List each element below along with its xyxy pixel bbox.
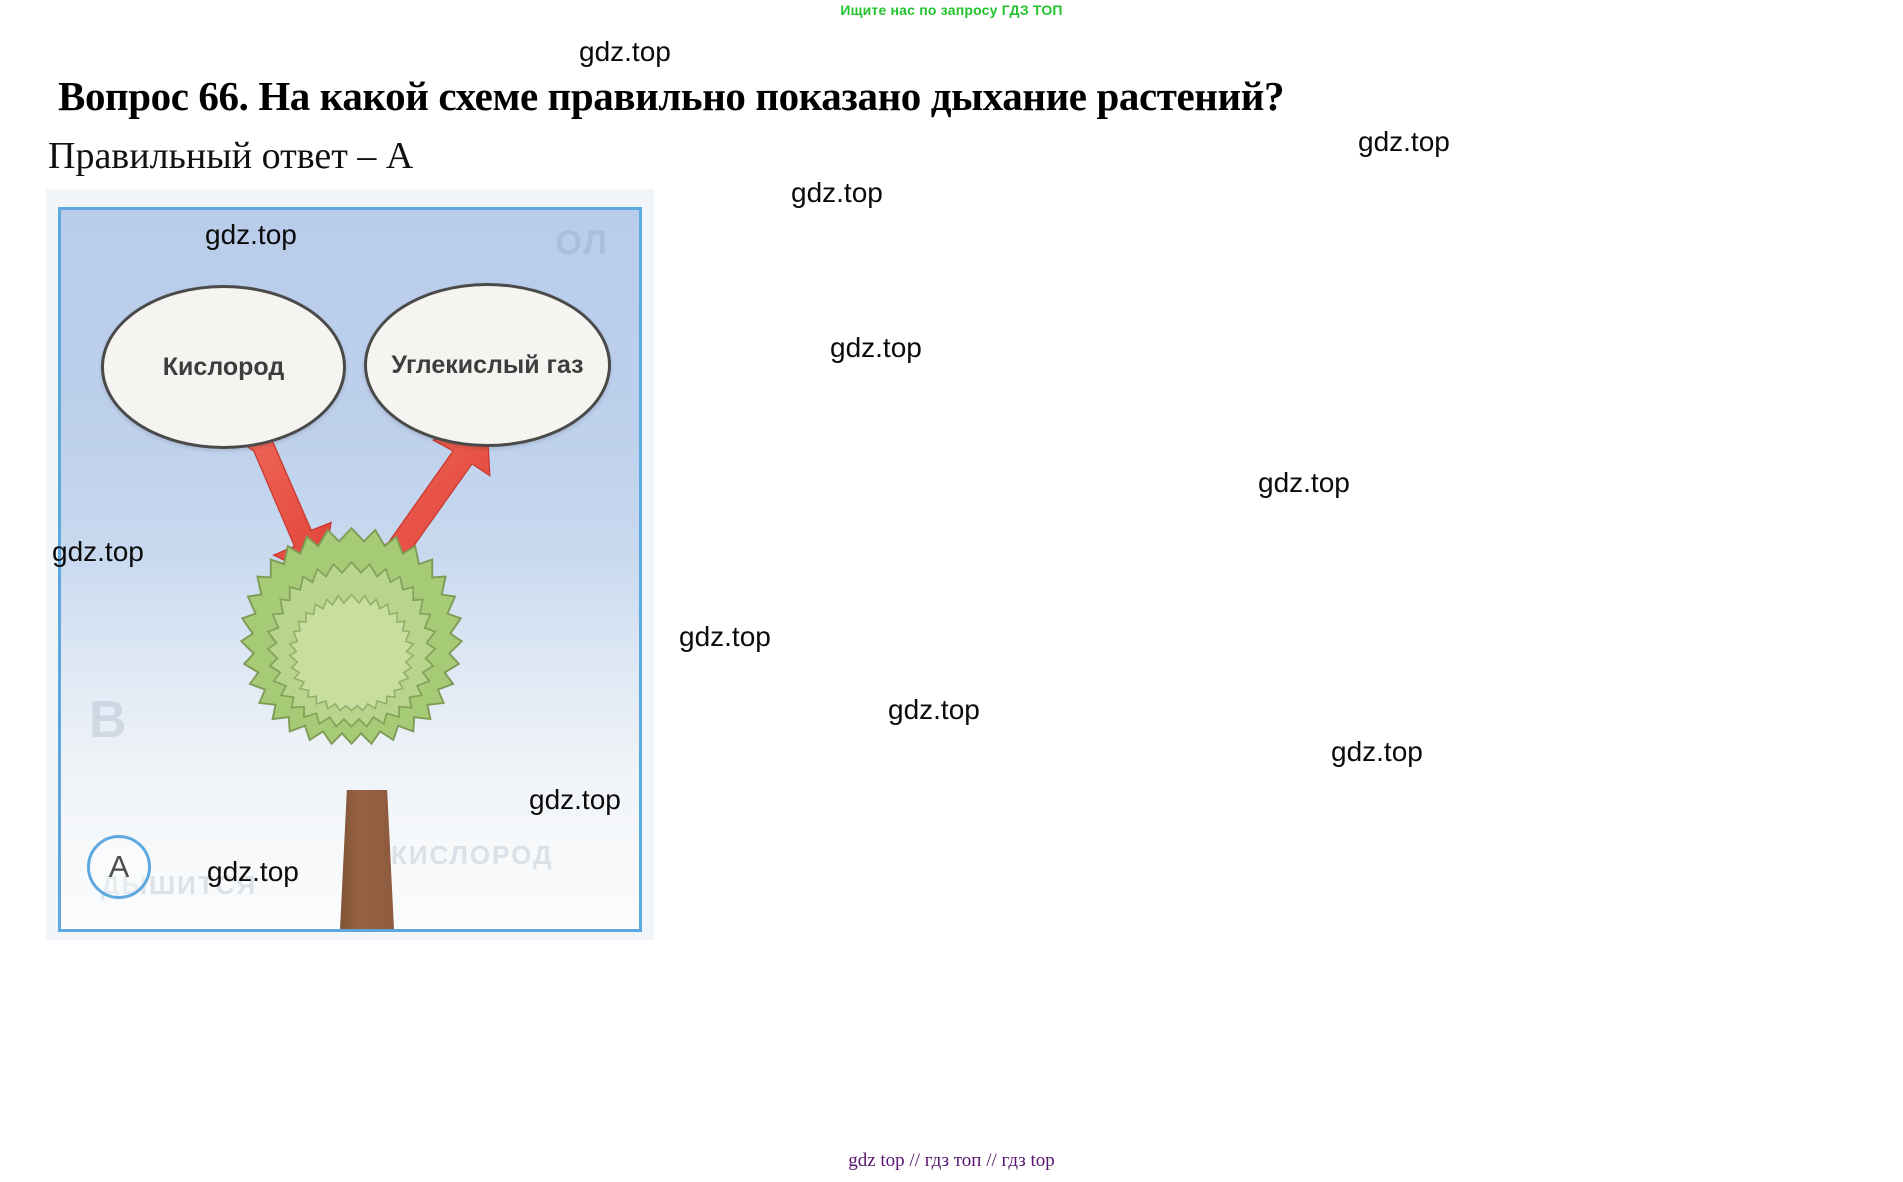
watermark: gdz.top bbox=[529, 784, 621, 816]
watermark: gdz.top bbox=[1331, 736, 1423, 768]
footer-links[interactable]: gdz top // гдз топ // гдз top bbox=[0, 1150, 1903, 1172]
bubble-carbon-dioxide-label: Углекислый газ bbox=[391, 352, 583, 379]
figure-panel: ОЛ РИСУН В КИСЛОРОД ДЫШИТСЯ bbox=[58, 207, 642, 932]
page-title: Вопрос 66. На какой схеме правильно пока… bbox=[58, 72, 1618, 120]
watermark: gdz.top bbox=[205, 219, 297, 251]
watermark: gdz.top bbox=[1358, 126, 1450, 158]
watermark: gdz.top bbox=[888, 694, 980, 726]
bubble-oxygen-label: Кислород bbox=[163, 354, 284, 381]
watermark: gdz.top bbox=[679, 621, 771, 653]
watermark: gdz.top bbox=[1258, 467, 1350, 499]
watermark: gdz.top bbox=[579, 36, 671, 68]
bubble-oxygen: Кислород bbox=[101, 285, 346, 449]
watermark: gdz.top bbox=[52, 536, 144, 568]
watermark: gdz.top bbox=[207, 856, 299, 888]
watermark: gdz.top bbox=[830, 332, 922, 364]
tree-canopy-icon bbox=[209, 525, 494, 820]
watermark: gdz.top bbox=[791, 177, 883, 209]
panel-letter-badge: А bbox=[87, 835, 151, 899]
bubble-carbon-dioxide: Углекислый газ bbox=[364, 283, 611, 447]
promo-banner: Ищите нас по запросу ГДЗ ТОП bbox=[0, 2, 1903, 18]
answer-text: Правильный ответ – А bbox=[48, 134, 413, 178]
tree-trunk-icon bbox=[339, 790, 395, 932]
